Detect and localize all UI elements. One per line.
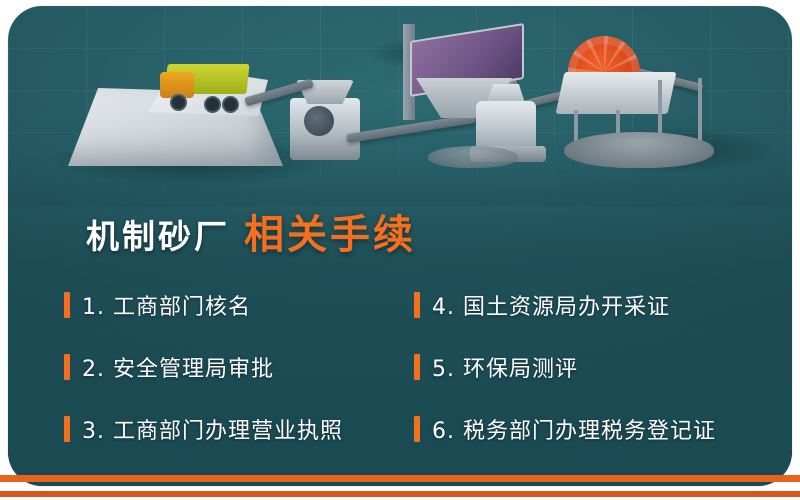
bullet-bar-icon [414,292,420,318]
teal-panel: 机制砂厂 相关手续 1. 工商部门核名 4. 国土资源局办开采证 2. 安全管理… [8,6,792,486]
bullet-bar-icon [64,292,70,318]
title-prefix: 机制砂厂 [86,210,230,258]
list-item-label: 2. 安全管理局审批 [82,351,274,383]
list-item: 4. 国土资源局办开采证 [414,289,754,321]
list-item-label: 4. 国土资源局办开采证 [432,289,670,321]
list-item-label: 3. 工商部门办理营业执照 [82,413,343,445]
dump-truck-wheel-icon [204,96,221,113]
stand-leg-icon [698,78,702,146]
list-item: 5. 环保局测评 [414,351,754,383]
bullet-bar-icon [414,354,420,380]
list-item-label: 6. 税务部门办理税务登记证 [432,413,716,445]
bullet-bar-icon [414,416,420,442]
flywheel-icon [304,106,334,136]
procedure-list: 1. 工商部门核名 4. 国土资源局办开采证 2. 安全管理局审批 5. 环保局… [64,274,754,460]
dump-truck-wheel-icon [170,94,187,111]
accent-stripe-upper [0,475,800,482]
dump-truck-wheel-icon [222,96,239,113]
list-item-label: 5. 环保局测评 [432,351,578,383]
title-emphasis: 相关手续 [244,202,416,260]
list-item-label: 1. 工商部门核名 [82,289,251,321]
sand-heap-icon [564,132,714,168]
page-title: 机制砂厂 相关手续 [86,202,416,260]
bullet-bar-icon [64,416,70,442]
sand-heap-icon [428,146,518,168]
list-item: 2. 安全管理局审批 [64,351,414,383]
list-item: 1. 工商部门核名 [64,289,414,321]
poster: 机制砂厂 相关手续 1. 工商部门核名 4. 国土资源局办开采证 2. 安全管理… [0,0,800,500]
bullet-bar-icon [64,354,70,380]
list-item: 3. 工商部门办理营业执照 [64,413,414,445]
accent-stripe-lower [0,491,800,497]
list-item: 6. 税务部门办理税务登记证 [414,413,754,445]
